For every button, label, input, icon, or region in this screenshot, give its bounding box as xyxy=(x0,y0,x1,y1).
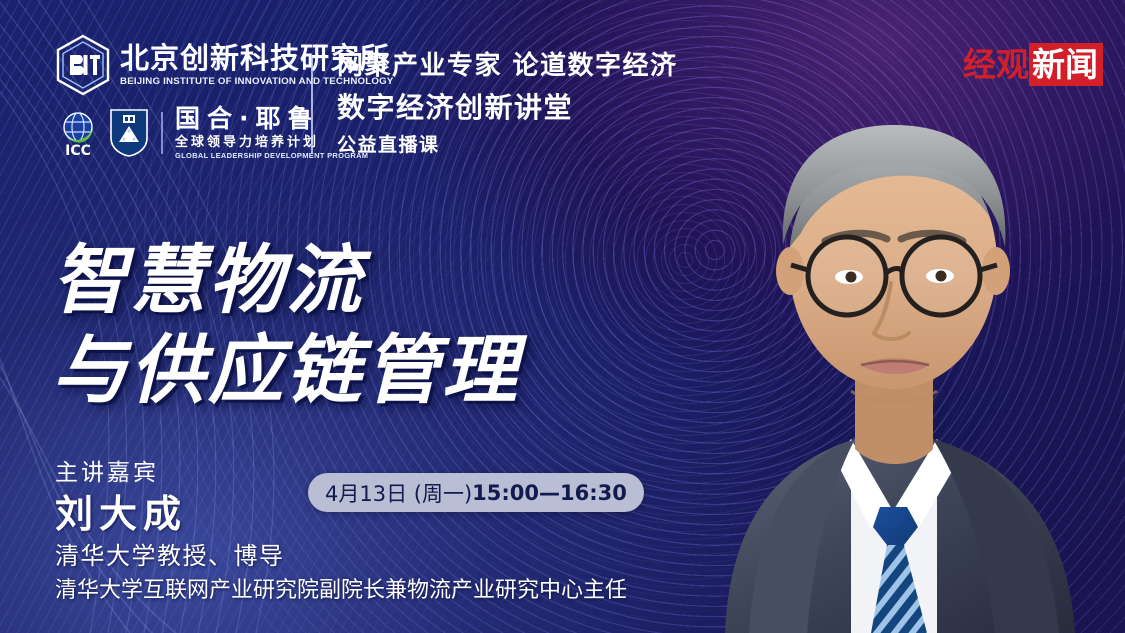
header-series-name: 数字经济创新讲堂 xyxy=(337,90,678,125)
schedule-pill: 4月13日 (周一) 15:00—16:30 xyxy=(308,473,644,512)
icc-globe-icon: ICC xyxy=(55,109,101,157)
header-vertical-divider xyxy=(311,56,313,154)
webinar-poster: 北京创新科技研究所 BEIJING INSTITUTE OF INNOVATIO… xyxy=(0,0,1125,633)
header-text-block: 网聚产业专家 论道数字经济 数字经济创新讲堂 公益直播课 xyxy=(337,50,678,157)
main-title-line-2: 与供应链管理 xyxy=(52,333,520,408)
speaker-portrait xyxy=(675,113,1125,633)
speaker-title-line-1: 清华大学教授、博导 xyxy=(55,542,627,571)
logo-divider xyxy=(161,112,163,154)
news-brand-part1: 经观 xyxy=(963,43,1029,86)
svg-text:ICC: ICC xyxy=(65,143,91,157)
header-tagline: 网聚产业专家 论道数字经济 xyxy=(337,50,678,83)
schedule-date: 4月13日 (周一) xyxy=(325,478,472,508)
schedule-time: 15:00—16:30 xyxy=(472,481,627,505)
news-brand-badge: 经观 新闻 xyxy=(963,43,1103,86)
main-title-line-1: 智慧物流 xyxy=(52,243,520,318)
biit-hexagon-icon xyxy=(55,34,111,96)
yale-shield-icon xyxy=(109,108,149,158)
speaker-title-line-2: 清华大学互联网产业研究院副院长兼物流产业研究中心主任 xyxy=(55,578,627,604)
news-brand-part2: 新闻 xyxy=(1029,43,1103,86)
main-title: 智慧物流 与供应链管理 xyxy=(52,243,520,408)
header-series-kind: 公益直播课 xyxy=(337,134,678,158)
